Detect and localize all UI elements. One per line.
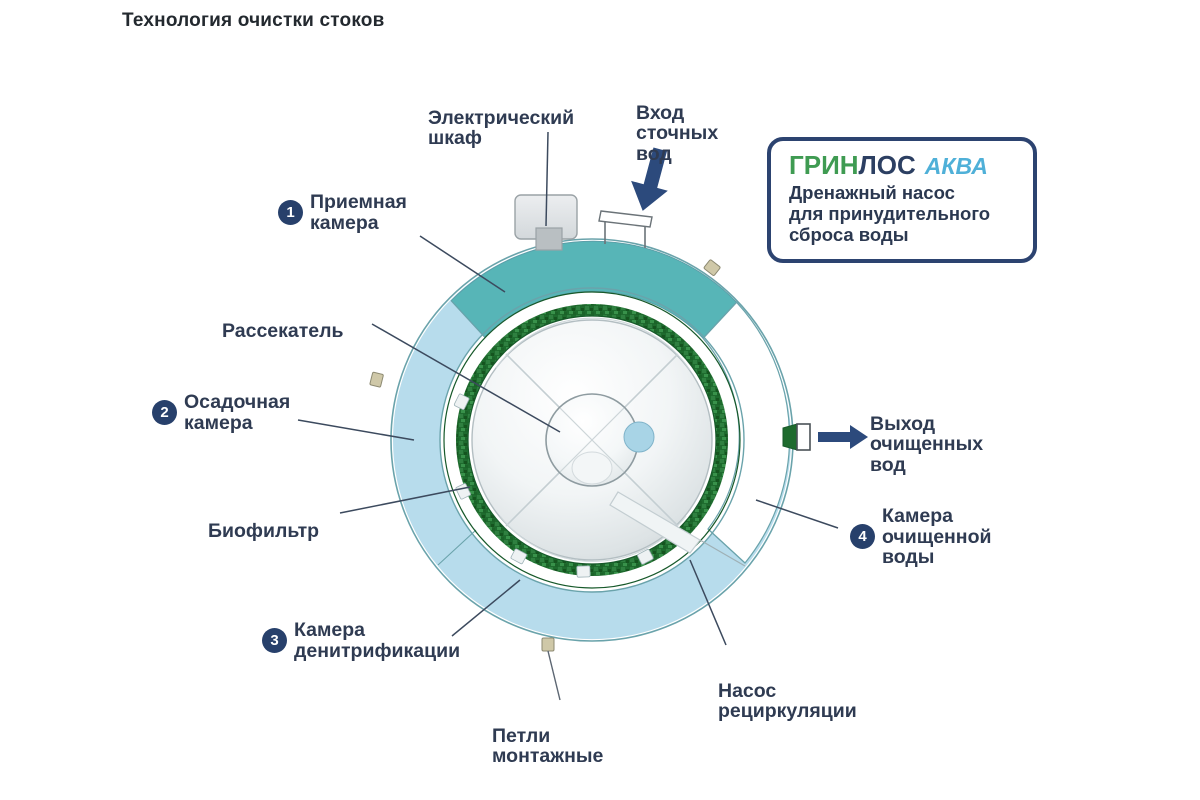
callout-vhod-stochnyh-vod[interactable]: Вход сточных вод <box>636 82 718 185</box>
callout-badge-1: 1 <box>278 200 303 225</box>
callout-label-1: Приемная камера <box>310 192 407 233</box>
logo-word-aqua: АКВА <box>925 153 988 179</box>
mounting-loop-leader <box>548 651 560 700</box>
callout-label-biofiltr: Биофильтр <box>208 521 319 542</box>
recirculation-port <box>624 422 654 452</box>
callout-label-petli: Петли монтажные <box>492 726 603 767</box>
diagram-stage: 1 Приемная камера Рассекатель 2 Осадочна… <box>0 0 1200 800</box>
callout-badge-2: 2 <box>152 400 177 425</box>
outlet-nozzle-icon <box>783 424 810 450</box>
callout-label-shkaf: Электрический шкаф <box>428 108 574 149</box>
callout-label-vyhod: Выход очищенных вод <box>870 414 983 476</box>
callout-label-3: Камера денитрификации <box>294 620 460 661</box>
callout-petli-montazhnye[interactable]: Петли монтажные <box>492 705 603 788</box>
callout-label-rassekatel: Рассекатель <box>222 321 344 342</box>
callout-vyhod-ochishchennyh-vod[interactable]: Выход очищенных вод <box>870 393 983 496</box>
callout-osadochnaya-kamera[interactable]: 2 Осадочная камера <box>152 392 290 433</box>
callout-priemnaya-kamera[interactable]: 1 Приемная камера <box>278 192 407 233</box>
logo-description: Дренажный насос для принудительного сбро… <box>789 183 1019 246</box>
callout-rassekatel[interactable]: Рассекатель <box>222 300 344 362</box>
callout-badge-3: 3 <box>262 628 287 653</box>
logo-wordmark: ГРИНЛОСАКВА <box>789 152 1019 178</box>
callout-kamera-denitrifikacii[interactable]: 3 Камера денитрификации <box>262 620 460 661</box>
callout-kamera-ochishchennoy-vody[interactable]: 4 Камера очищенной воды <box>850 506 992 568</box>
callout-label-2: Осадочная камера <box>184 392 290 433</box>
callout-label-nasos: Насос рециркуляции <box>718 681 857 722</box>
callout-badge-4: 4 <box>850 524 875 549</box>
callout-label-4: Камера очищенной воды <box>882 506 992 568</box>
greenlos-aqua-logo-card[interactable]: ГРИНЛОСАКВА Дренажный насос для принудит… <box>767 137 1037 263</box>
callout-biofiltr[interactable]: Биофильтр <box>208 500 319 562</box>
callout-elektricheskiy-shkaf[interactable]: Электрический шкаф <box>428 87 574 170</box>
hub-base-shadow <box>572 452 612 484</box>
callout-label-vhod: Вход сточных вод <box>636 103 718 165</box>
logo-word-grin: ГРИН <box>789 150 859 180</box>
callout-nasos-recirkulyacii[interactable]: Насос рециркуляции <box>718 660 857 743</box>
outlet-arrow <box>818 425 868 449</box>
logo-word-los: ЛОС <box>859 150 916 180</box>
